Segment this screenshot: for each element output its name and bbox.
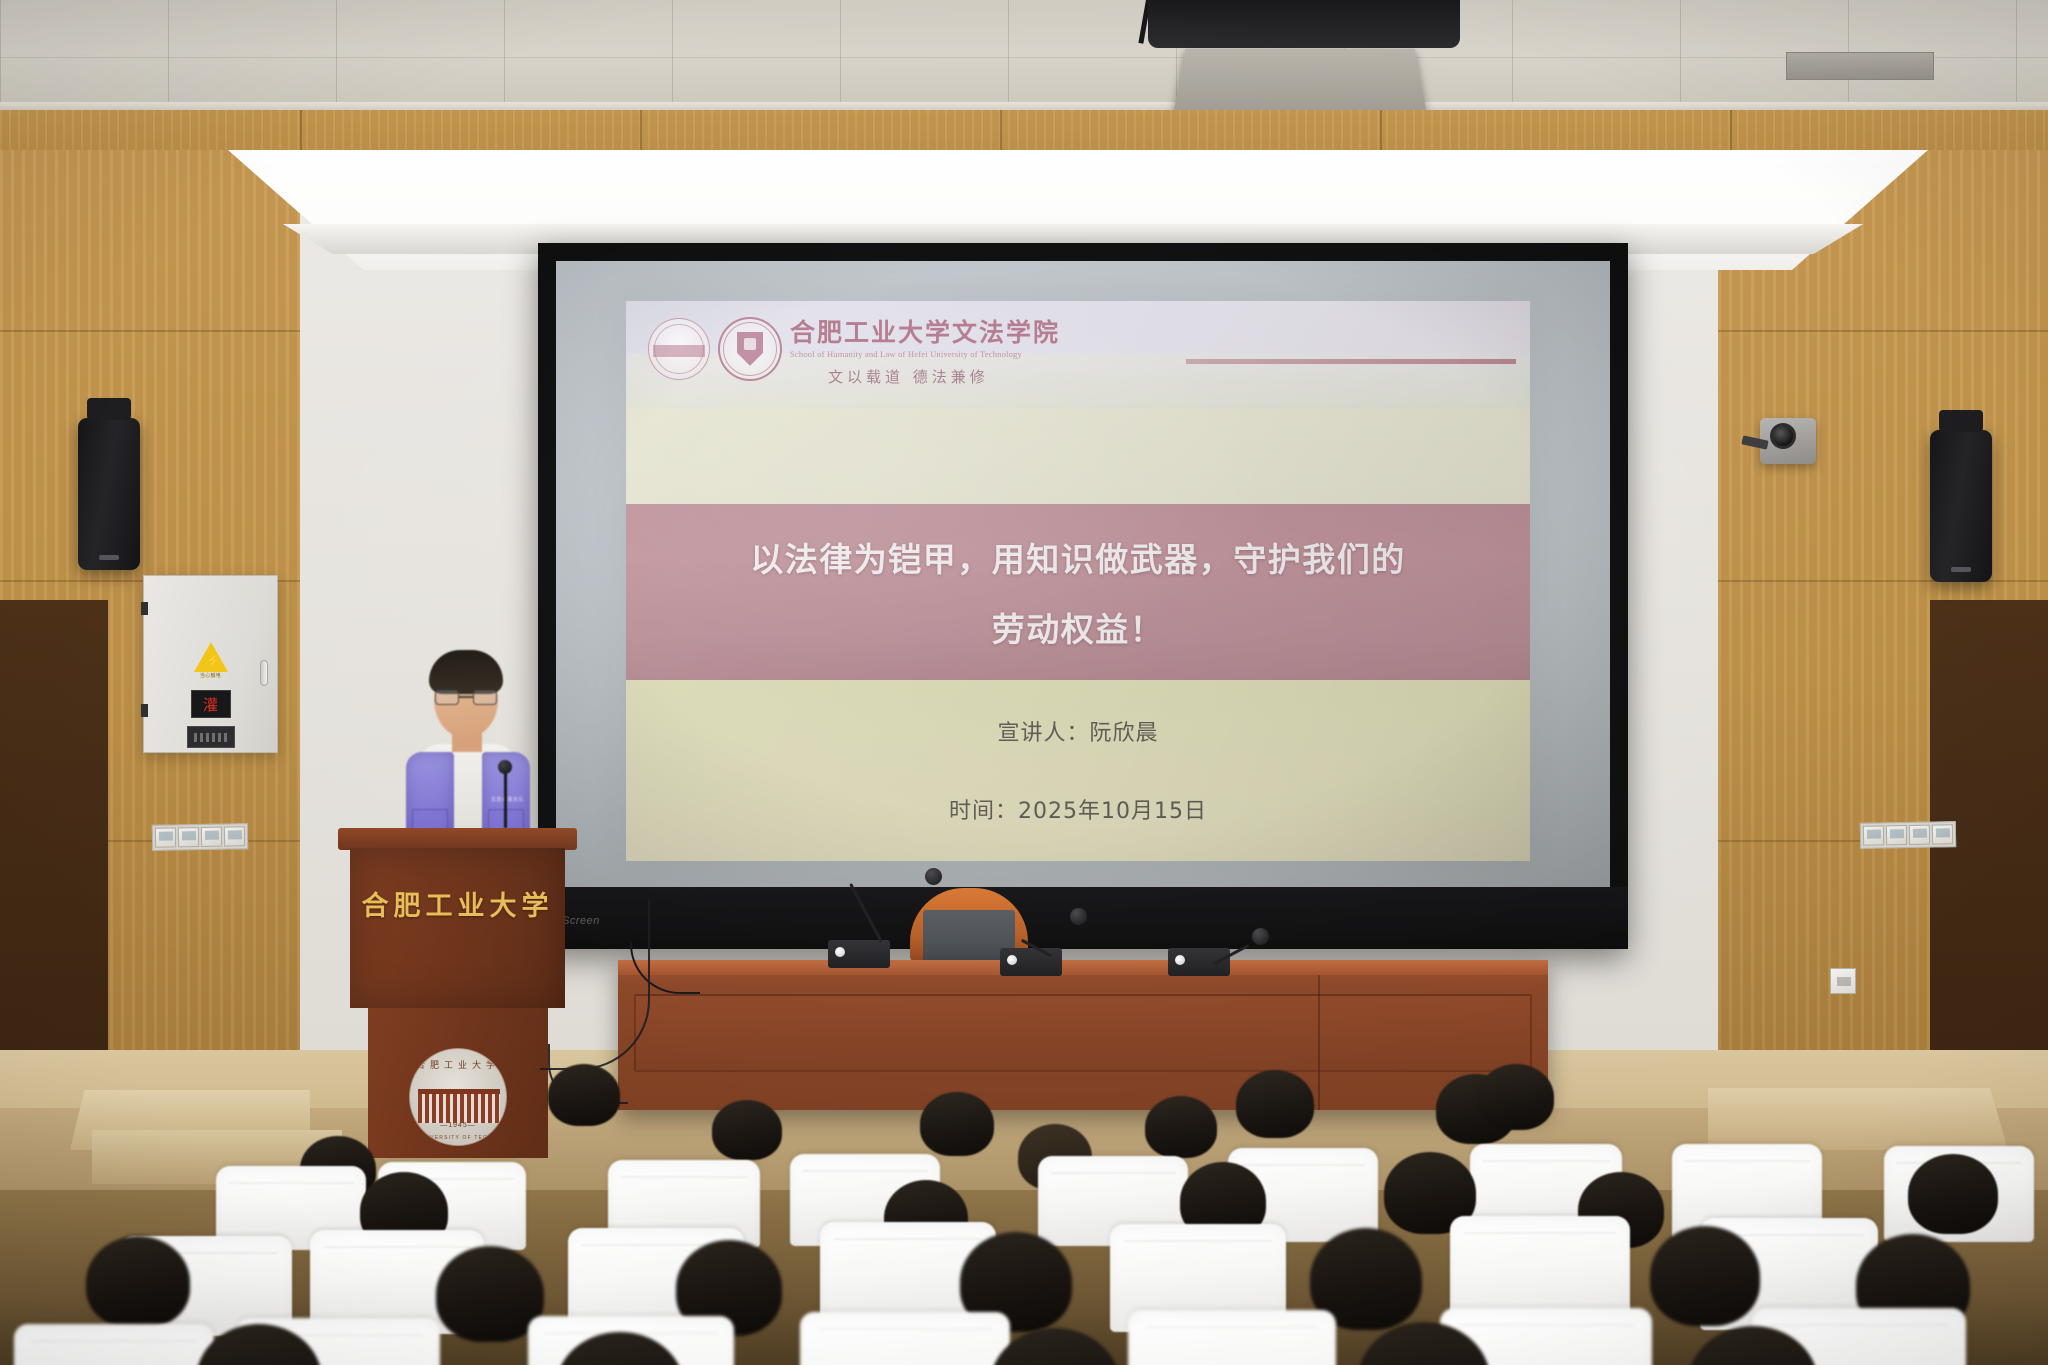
slide-header-band: 合肥工业大学文法学院 School of Humanity and Law of…	[626, 301, 1530, 408]
table-molding	[634, 994, 1532, 1072]
outlet-plate[interactable]	[1863, 825, 1884, 845]
outlet-plate[interactable]	[1932, 824, 1953, 844]
screen-surface: 合肥工业大学文法学院 School of Humanity and Law of…	[556, 261, 1610, 887]
warning-label: 当心触电	[200, 672, 221, 679]
presenter-glasses-icon	[435, 690, 497, 705]
projection-screen: 合肥工业大学文法学院 School of Humanity and Law of…	[538, 243, 1628, 949]
slide-meta-band: 宣讲人：阮欣晨 时间：2025年10月15日	[626, 680, 1530, 862]
ceiling-tile-grid	[0, 0, 2048, 118]
table-microphone-1-base[interactable]	[828, 940, 890, 968]
presenter-microphone-stem	[504, 768, 507, 828]
cabinet-meter	[187, 726, 235, 748]
projector-body	[1174, 49, 1426, 110]
presenter-person: 志愿者服务队	[388, 640, 548, 845]
presenter-microphone-head	[498, 760, 512, 774]
lecture-hall-photo: 当心触电 灌	[0, 0, 2048, 1365]
table-microphone-2-base[interactable]	[1000, 948, 1062, 976]
table-microphone-3-head	[1252, 928, 1269, 945]
attendee-head	[1478, 1064, 1554, 1130]
right-wall-speaker	[1930, 430, 1992, 582]
glasses-bridge	[459, 696, 473, 698]
attendee-head	[86, 1236, 190, 1328]
speaker-badge	[99, 555, 119, 560]
speaker-bracket	[87, 398, 131, 420]
audience-seat	[800, 1312, 1010, 1365]
camera-lens-icon	[1770, 423, 1796, 449]
ceiling	[0, 0, 2048, 118]
cabinet-digital-display: 灌	[191, 690, 231, 718]
cabinet-hinge	[141, 704, 148, 717]
audience-area	[0, 1088, 2048, 1365]
panel-seam	[1718, 580, 2048, 582]
glasses-lens-right	[473, 690, 497, 705]
slide-presenter: 宣讲人：阮欣晨	[997, 715, 1158, 747]
panel-seam	[1718, 330, 2048, 332]
presentation-slide: 合肥工业大学文法学院 School of Humanity and Law of…	[626, 301, 1530, 861]
podium-name-plate: 合肥工业大学	[362, 884, 554, 923]
left-outlet-bank[interactable]	[152, 823, 248, 851]
attendee-head	[1650, 1226, 1760, 1326]
outlet-plate[interactable]	[178, 827, 199, 847]
shield-shape	[737, 332, 763, 366]
right-doorway	[1930, 600, 2048, 1110]
slide-title-line-1: 以法律为铠甲，用知识做武器，守护我们的	[750, 533, 1406, 581]
podium-top-surface	[338, 828, 577, 850]
slide-title-band: 以法律为铠甲，用知识做武器，守护我们的 劳动权益！	[626, 504, 1530, 680]
light-panel	[250, 152, 1900, 226]
table-microphone-1-head	[925, 868, 942, 885]
university-seal-icon	[648, 318, 710, 380]
slide-date: 时间：2025年10月15日	[949, 793, 1207, 825]
mic-led-icon	[1175, 955, 1185, 965]
mic-led-icon	[835, 947, 845, 957]
attendee-head	[1145, 1096, 1217, 1158]
podium-front-panel: 合肥工业大学	[350, 848, 565, 1008]
institution-name-cn: 合肥工业大学文法学院	[790, 319, 1060, 347]
electrical-cabinet[interactable]: 当心触电 灌	[143, 575, 278, 753]
left-wall-speaker	[78, 418, 140, 570]
vest-badge-text: 志愿者服务队	[491, 796, 524, 803]
school-shield-seal-icon	[718, 317, 782, 381]
slide-logos: 合肥工业大学文法学院 School of Humanity and Law of…	[626, 301, 1060, 387]
cabinet-hinge	[141, 602, 148, 615]
slide-header-text: 合肥工业大学文法学院 School of Humanity and Law of…	[790, 311, 1060, 387]
outlet-plate[interactable]	[224, 826, 245, 846]
ceiling-vent	[1786, 52, 1934, 80]
electric-shock-warning-icon	[194, 642, 228, 672]
glasses-lens-left	[435, 690, 459, 705]
panel-seam	[0, 330, 300, 332]
ptz-camera-right	[1760, 418, 1816, 464]
table-microphone-2-head	[1070, 908, 1087, 925]
table-microphone-3-base[interactable]	[1168, 948, 1230, 976]
audience-seat	[1128, 1310, 1336, 1365]
slide-cream-band-upper	[626, 408, 1530, 504]
attendee-head	[548, 1064, 620, 1126]
audience-seat	[14, 1324, 214, 1365]
mic-led-icon	[1007, 955, 1017, 965]
table-top-edge	[618, 960, 1548, 975]
outlet-plate[interactable]	[1886, 825, 1907, 845]
left-doorway	[0, 600, 108, 1110]
outlet-plate[interactable]	[201, 827, 222, 847]
speaker-bracket	[1939, 410, 1983, 432]
presenter-hair	[429, 650, 503, 694]
attendee-head	[920, 1092, 994, 1156]
institution-motto: 文以载道 德法兼修	[790, 366, 1060, 387]
header-accent-rule	[1186, 359, 1516, 364]
institution-name-en: School of Humanity and Law of Hefei Univ…	[790, 349, 1060, 359]
seal-building-bar	[653, 345, 705, 357]
projector-mount	[1148, 0, 1460, 48]
attendee-head	[1236, 1070, 1314, 1138]
attendee-head	[712, 1100, 782, 1160]
outlet-plate[interactable]	[1909, 825, 1930, 845]
attendee-head	[1908, 1154, 1998, 1234]
cabinet-handle[interactable]	[260, 660, 268, 686]
right-outlet-bank[interactable]	[1860, 821, 1956, 849]
emblem-top-text: 合肥工业大学	[416, 1058, 500, 1071]
display-value: 灌	[203, 694, 218, 715]
wall-outlet[interactable]	[1830, 968, 1856, 994]
speaker-badge	[1951, 567, 1971, 572]
outlet-plate[interactable]	[155, 827, 176, 847]
slide-title-line-2: 劳动权益！	[992, 603, 1165, 651]
